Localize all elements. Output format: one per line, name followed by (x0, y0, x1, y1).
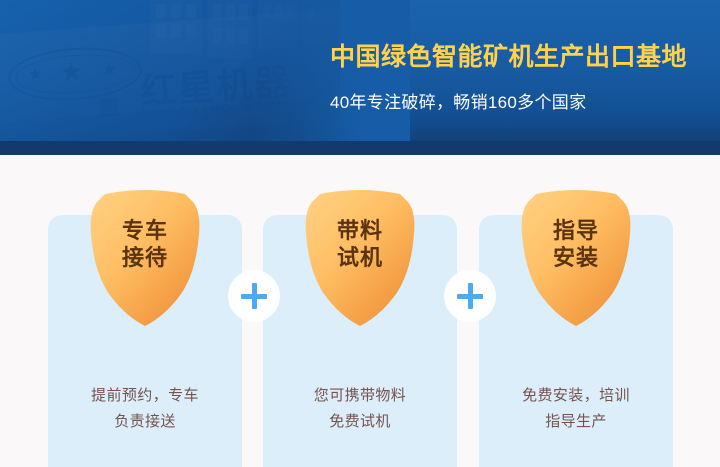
shield-label-1: 专车 接待 (83, 218, 207, 272)
card-desc-line2: 指导生产 (479, 409, 673, 435)
shield-label-line2: 安装 (514, 245, 638, 272)
shield-badge-1: 专车 接待 (83, 190, 207, 328)
banner-headline: 中国绿色智能矿机生产出口基地 (330, 44, 710, 72)
plus-connector-2 (444, 270, 496, 322)
service-card-1[interactable]: 专车 接待 提前预约，专车 负责接送 (48, 215, 242, 467)
shield-label-line2: 接待 (83, 245, 207, 272)
shield-label-2: 带料 试机 (298, 218, 422, 272)
card-description-1: 提前预约，专车 负责接送 (48, 383, 242, 436)
header-banner: ★ ★ ★ 红星机器 HONGXING MACHINERY 中国绿色智能矿机生产… (0, 0, 720, 155)
card-desc-line2: 免费试机 (263, 409, 457, 435)
banner-text-group: 中国绿色智能矿机生产出口基地 40年专注破碎，畅销160多个国家 (330, 44, 710, 113)
shield-badge-2: 带料 试机 (298, 190, 422, 328)
banner-bottom-strip (0, 141, 720, 155)
card-description-2: 您可携带物料 免费试机 (263, 383, 457, 436)
service-card-3[interactable]: 指导 安装 免费安装，培训 指导生产 (479, 215, 673, 467)
shield-label-line2: 试机 (298, 245, 422, 272)
service-card-2[interactable]: 带料 试机 您可携带物料 免费试机 (263, 215, 457, 467)
shield-label-line1: 指导 (514, 218, 638, 245)
card-description-3: 免费安装，培训 指导生产 (479, 383, 673, 436)
promo-banner-page: ★ ★ ★ 红星机器 HONGXING MACHINERY 中国绿色智能矿机生产… (0, 0, 720, 467)
card-desc-line2: 负责接送 (48, 409, 242, 435)
banner-subheadline: 40年专注破碎，畅销160多个国家 (330, 88, 710, 113)
shield-label-line1: 带料 (298, 218, 422, 245)
card-desc-line1: 您可携带物料 (263, 383, 457, 409)
shield-label-line1: 专车 (83, 218, 207, 245)
plus-icon-vertical (252, 283, 257, 309)
shield-label-3: 指导 安装 (514, 218, 638, 272)
service-cards-section: 专车 接待 提前预约，专车 负责接送 (0, 155, 720, 467)
card-desc-line1: 提前预约，专车 (48, 383, 242, 409)
card-desc-line1: 免费安装，培训 (479, 383, 673, 409)
shield-badge-3: 指导 安装 (514, 190, 638, 328)
plus-icon-vertical (468, 283, 473, 309)
plus-connector-1 (228, 270, 280, 322)
